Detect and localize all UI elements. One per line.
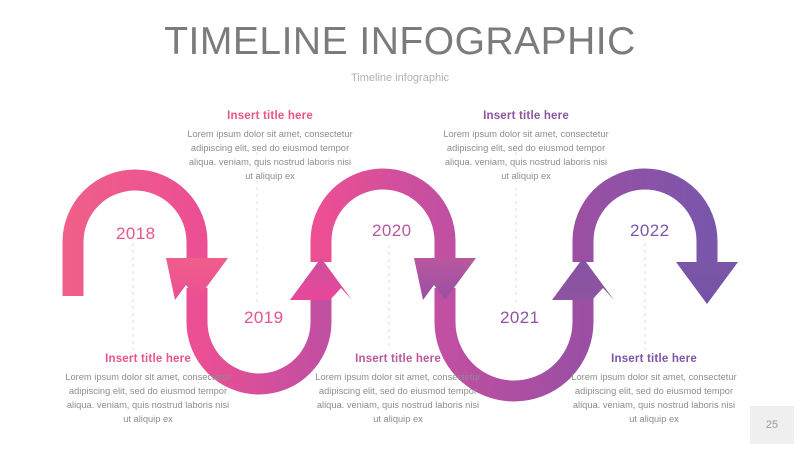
milestone-body: Lorem ipsum dolor sit amet, consectetur …: [312, 370, 484, 427]
milestone-title: Insert title here: [568, 353, 740, 365]
milestone-title: Insert title here: [184, 110, 356, 122]
year-label-2018: 2018: [116, 224, 155, 244]
slide-canvas: TIMELINE INFOGRAPHIC Timeline infographi…: [0, 0, 800, 450]
milestone-block-2021: Insert title here Lorem ipsum dolor sit …: [312, 353, 484, 427]
year-label-2021: 2021: [500, 308, 539, 328]
milestone-block-2018: Insert title here Lorem ipsum dolor sit …: [184, 110, 356, 184]
arrow-up-icon: [290, 258, 352, 300]
milestone-body: Lorem ipsum dolor sit amet, consectetur …: [568, 370, 740, 427]
page-number-badge: 25: [750, 406, 794, 444]
arrow-down-icon: [676, 262, 738, 304]
year-label-2019: 2019: [244, 308, 283, 328]
milestone-block-2022: Insert title here Lorem ipsum dolor sit …: [568, 353, 740, 427]
arrow-down-icon: [414, 258, 476, 300]
milestone-body: Lorem ipsum dolor sit amet, consectetur …: [62, 370, 234, 427]
milestone-title: Insert title here: [312, 353, 484, 365]
arrow-down-icon: [166, 258, 228, 300]
milestone-block-2020: Insert title here Lorem ipsum dolor sit …: [440, 110, 612, 184]
year-label-2022: 2022: [630, 221, 669, 241]
milestone-title: Insert title here: [440, 110, 612, 122]
milestone-title: Insert title here: [62, 353, 234, 365]
milestone-body: Lorem ipsum dolor sit amet, consectetur …: [440, 127, 612, 184]
milestone-block-2019: Insert title here Lorem ipsum dolor sit …: [62, 353, 234, 427]
year-label-2020: 2020: [372, 221, 411, 241]
milestone-body: Lorem ipsum dolor sit amet, consectetur …: [184, 127, 356, 184]
arrow-up-icon: [552, 258, 614, 300]
